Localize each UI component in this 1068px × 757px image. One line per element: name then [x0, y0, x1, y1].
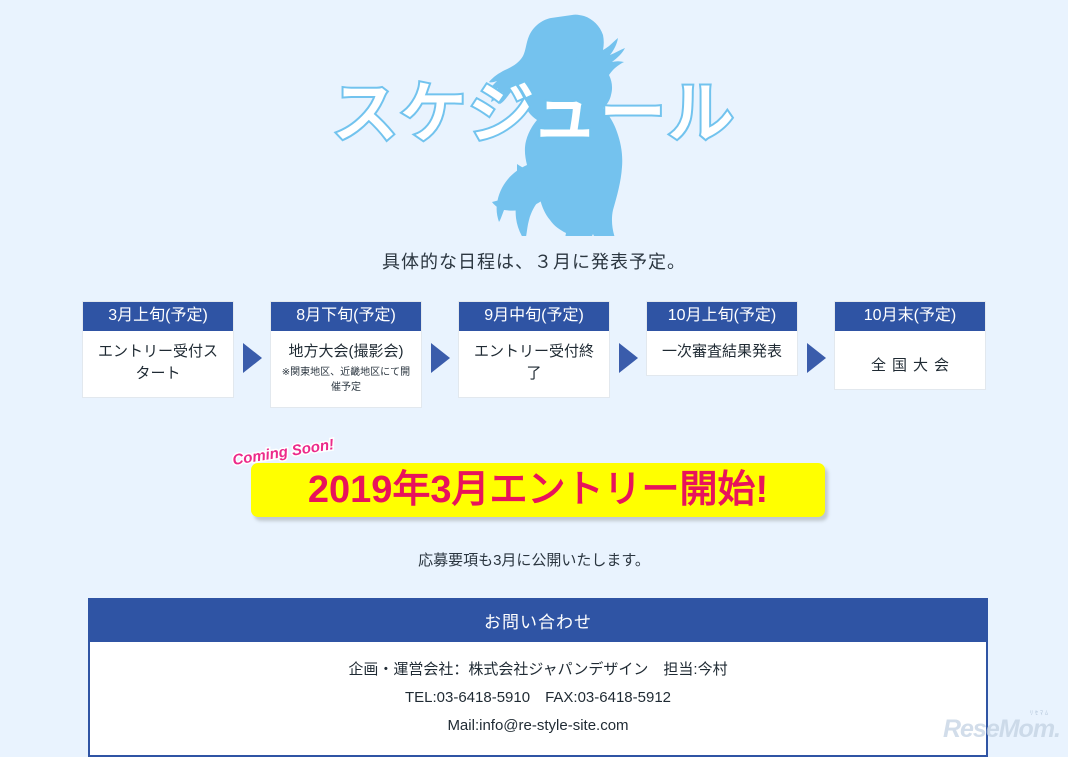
timeline-arrow-3 [609, 302, 647, 414]
step-text: 一次審査結果発表 [662, 343, 782, 360]
step-date-label: 9月中旬(予定) [459, 302, 609, 331]
timeline-step-4: 10月上旬(予定) 一次審査結果発表 [647, 302, 797, 375]
right-triangle-arrow-icon [431, 343, 450, 373]
timeline-step-5: 10月末(予定) 全国大会 [835, 302, 985, 389]
step-body: エントリー受付スタート [83, 331, 233, 397]
timeline-arrow-2 [421, 302, 459, 414]
hero-section: スケジュール [0, 0, 1068, 236]
timeline-step-1: 3月上旬(予定) エントリー受付スタート [83, 302, 233, 397]
step-body: 一次審査結果発表 [647, 331, 797, 375]
step-body: エントリー受付終了 [459, 331, 609, 397]
timeline-step-2: 8月下旬(予定) 地方大会(撮影会) ※関東地区、近畿地区にて開催予定 [271, 302, 421, 407]
page-title: スケジュール [0, 80, 1068, 146]
entry-banner-text: 2019年3月エントリー開始! [308, 471, 768, 509]
watermark-logo-text: ReseMom. [943, 717, 1060, 742]
timeline-arrow-1 [233, 302, 271, 414]
right-triangle-arrow-icon [619, 343, 638, 373]
contact-box: お問い合わせ 企画・運営会社：株式会社ジャパンデザイン 担当:今村 TEL:03… [88, 598, 988, 757]
contact-heading: お問い合わせ [90, 600, 986, 642]
schedule-timeline: 3月上旬(予定) エントリー受付スタート 8月下旬(予定) 地方大会(撮影会) … [0, 302, 1068, 417]
right-triangle-arrow-icon [243, 343, 262, 373]
timeline-arrow-4 [797, 302, 835, 414]
step-date-label: 10月末(予定) [835, 302, 985, 331]
step-body: 全国大会 [835, 331, 985, 389]
contact-line-company: 企画・運営会社：株式会社ジャパンデザイン 担当:今村 [90, 656, 986, 684]
step-text: 全国大会 [871, 357, 955, 374]
contact-line-mail: Mail:info@re-style-site.com [90, 712, 986, 740]
step-note: ※関東地区、近畿地区にて開催予定 [279, 365, 413, 395]
step-date-label: 8月下旬(予定) [271, 302, 421, 331]
step-body: 地方大会(撮影会) ※関東地区、近畿地区にて開催予定 [271, 331, 421, 407]
entry-banner-section: 2019年3月エントリー開始! [0, 457, 1068, 527]
application-note: 応募要項も3月に公開いたします。 [0, 549, 1068, 570]
contact-details: 企画・運営会社：株式会社ジャパンデザイン 担当:今村 TEL:03-6418-5… [90, 642, 986, 755]
timeline-step-3: 9月中旬(予定) エントリー受付終了 [459, 302, 609, 397]
step-date-label: 10月上旬(予定) [647, 302, 797, 331]
step-text: エントリー受付スタート [98, 343, 218, 382]
subtitle-text: 具体的な日程は、３月に発表予定。 [0, 248, 1068, 274]
step-text: 地方大会(撮影会) [289, 343, 404, 360]
entry-banner: 2019年3月エントリー開始! [251, 463, 825, 517]
step-date-label: 3月上旬(予定) [83, 302, 233, 331]
resemom-watermark: ﾘｾﾏﾑ ReseMom. [943, 711, 1060, 742]
contact-line-phone: TEL:03-6418-5910 FAX:03-6418-5912 [90, 684, 986, 712]
step-text: エントリー受付終了 [474, 343, 594, 382]
right-triangle-arrow-icon [807, 343, 826, 373]
